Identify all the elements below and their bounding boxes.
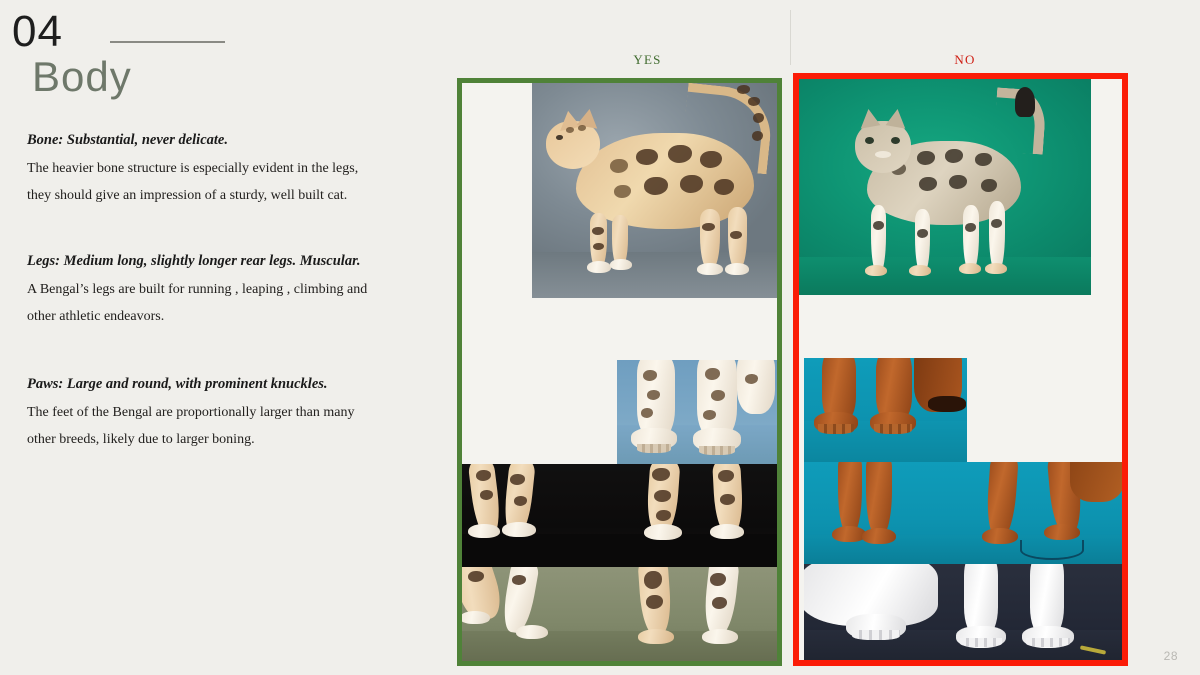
section-paws: Paws: Large and round, with prominent kn… [27,372,377,453]
no-frame-inner [799,79,1122,660]
slide: 04 Body Bone: Substantial, never delicat… [0,0,1200,675]
yes-photo-3 [462,464,777,568]
yes-photo-4 [462,567,777,661]
body-copy: Bone: Substantial, never delicate. The h… [27,128,377,475]
title-underline-rule [110,41,225,43]
yes-photo-frame [457,78,782,666]
section-bone-body: The heavier bone structure is especially… [27,155,377,209]
section-number: 04 [12,10,63,54]
yes-photo-2 [617,360,777,465]
yes-frame-inner [462,83,777,661]
section-legs-heading: Legs: Medium long, slightly longer rear … [27,249,377,274]
section-legs: Legs: Medium long, slightly longer rear … [27,249,377,330]
no-column-label: NO [885,52,1045,68]
section-legs-body: A Bengal’s legs are built for running , … [27,276,377,330]
no-photo-2 [804,358,967,463]
section-bone-heading: Bone: Substantial, never delicate. [27,128,377,153]
yes-column-label: YES [565,52,730,68]
column-divider [790,10,791,65]
yes-photo-1 [532,83,777,298]
section-bone: Bone: Substantial, never delicate. The h… [27,128,377,209]
no-photo-3 [804,462,1122,565]
page-title: Body [32,56,132,98]
section-paws-body: The feet of the Bengal are proportionall… [27,399,377,453]
left-content-column: 04 Body Bone: Substantial, never delicat… [0,0,440,675]
no-photo-4 [804,564,1122,660]
slide-title-block: 04 Body [10,4,430,114]
section-paws-heading: Paws: Large and round, with prominent kn… [27,372,377,397]
no-photo-frame [793,73,1128,666]
page-number: 28 [1164,649,1178,663]
no-photo-1 [799,79,1091,295]
